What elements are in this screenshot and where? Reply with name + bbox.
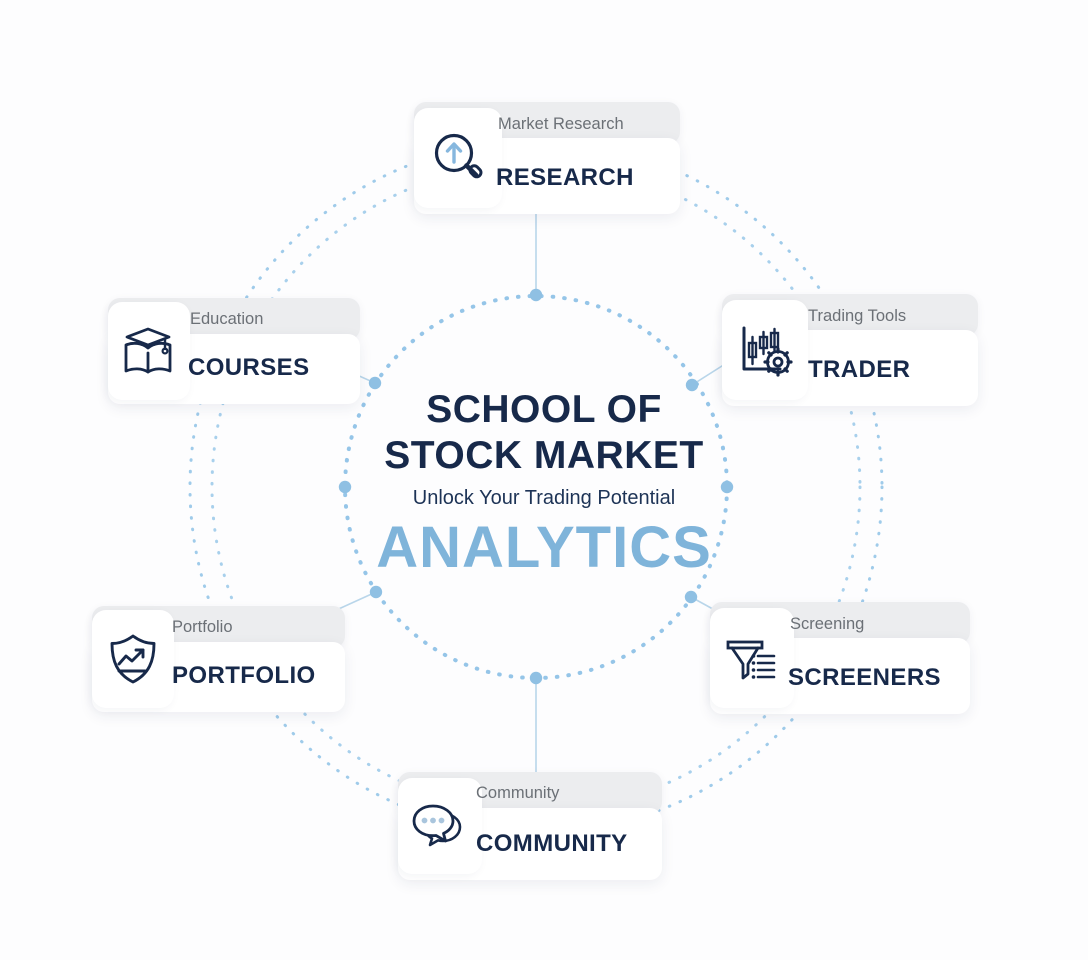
speech-bubbles-icon	[411, 797, 469, 855]
funnel-list-icon	[723, 629, 781, 687]
brand-highlight: ANALYTICS	[0, 519, 1088, 577]
center-branding: SCHOOL OF STOCK MARKET Unlock Your Tradi…	[0, 390, 1088, 577]
ring-node-screeners	[685, 591, 697, 603]
shield-trend-icon	[105, 631, 161, 687]
card-trader-title: TRADER	[808, 356, 910, 384]
ring-node-portfolio	[370, 586, 382, 598]
brand-title-line2: STOCK MARKET	[0, 436, 1088, 475]
card-community-title: COMMUNITY	[476, 830, 628, 858]
ring-node-courses	[369, 377, 381, 389]
card-community-icon-panel	[398, 778, 482, 874]
brand-tagline: Unlock Your Trading Potential	[0, 488, 1088, 508]
card-courses[interactable]: Education COURSES	[108, 298, 360, 404]
card-courses-category: Education	[190, 310, 263, 329]
card-screeners-category: Screening	[790, 615, 864, 634]
card-portfolio-category: Portfolio	[172, 618, 233, 637]
card-screeners-title: SCREENERS	[788, 664, 941, 692]
card-research[interactable]: Market Research RESEARCH	[414, 102, 680, 214]
card-portfolio[interactable]: Portfolio PORTFOLIO	[92, 606, 345, 712]
card-community-category: Community	[476, 784, 559, 803]
ring-node-community	[530, 672, 542, 684]
card-screeners[interactable]: Screening SCREENERS	[710, 602, 970, 714]
card-trader-category: Trading Tools	[808, 307, 906, 326]
magnifier-up-arrow-icon	[429, 129, 487, 187]
candlestick-gear-icon	[736, 321, 794, 379]
card-community[interactable]: Community COMMUNITY	[398, 772, 662, 880]
card-portfolio-icon-panel	[92, 610, 174, 708]
ring-node-research	[530, 289, 542, 301]
card-screeners-icon-panel	[710, 608, 794, 708]
card-research-icon-panel	[414, 108, 502, 208]
card-trader[interactable]: Trading Tools TRADER	[722, 294, 978, 406]
card-courses-title: COURSES	[188, 354, 310, 382]
infographic-canvas: SCHOOL OF STOCK MARKET Unlock Your Tradi…	[0, 0, 1088, 960]
graduation-book-icon	[120, 323, 178, 379]
card-portfolio-title: PORTFOLIO	[172, 662, 316, 690]
card-courses-icon-panel	[108, 302, 190, 400]
card-trader-icon-panel	[722, 300, 808, 400]
card-research-title: RESEARCH	[496, 164, 634, 192]
card-research-category: Market Research	[498, 115, 624, 134]
